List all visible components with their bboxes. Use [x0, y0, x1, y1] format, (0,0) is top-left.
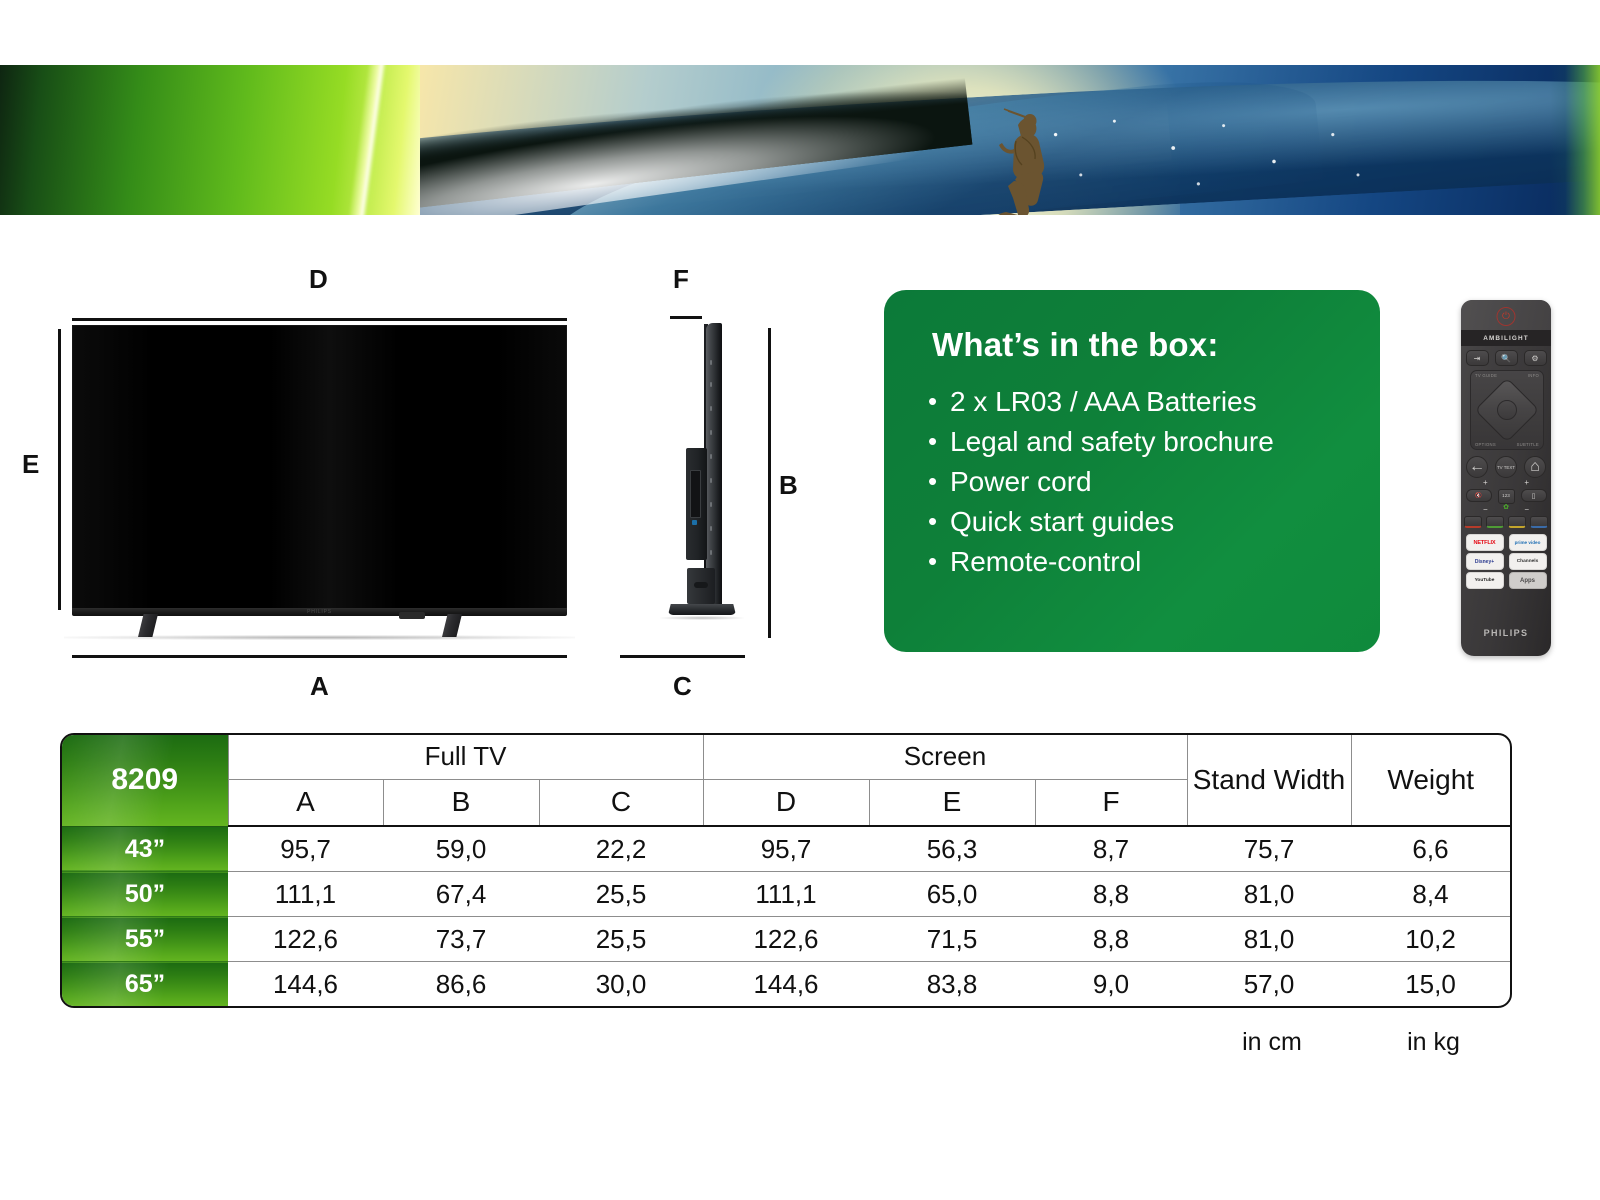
dim-rule-F — [670, 316, 702, 319]
row-size-label: 43” — [62, 826, 228, 872]
row-size-label: 55” — [62, 917, 228, 962]
cell-stand-width: 75,7 — [1187, 826, 1351, 872]
tv-side-marker-4 — [710, 430, 712, 435]
column-header-weight: Weight — [1351, 735, 1510, 826]
tv-side-marker-9 — [710, 550, 712, 555]
cell-stand-width: 81,0 — [1187, 872, 1351, 917]
home-icon: ⌂ — [1524, 456, 1546, 478]
tv-shadow — [64, 635, 575, 640]
options-label: OPTIONS — [1475, 442, 1496, 447]
search-icon: 🔍 — [1495, 350, 1518, 366]
remote-philips-logo: PHILIPS — [1461, 628, 1551, 638]
cell-D: 122,6 — [703, 917, 869, 962]
cell-stand-width: 57,0 — [1187, 962, 1351, 1006]
remote-volume-row: 🔇 123 ▯ — [1461, 489, 1551, 504]
prime-video-button: prime video — [1509, 534, 1547, 551]
yellow-button — [1508, 516, 1526, 528]
red-button — [1464, 516, 1482, 528]
youtube-button: YouTube — [1466, 572, 1504, 589]
row-size-label: 50” — [62, 872, 228, 917]
channels-button: Channels — [1509, 553, 1547, 570]
unit-label-cm: in cm — [1190, 1028, 1354, 1057]
remote-nav-row: ← TV TEXT ⌂ — [1461, 456, 1551, 478]
tv-philips-logo: PHILIPS — [307, 609, 332, 615]
dim-rule-D — [72, 318, 567, 321]
dim-rule-C — [620, 655, 745, 658]
dim-label-C: C — [673, 671, 692, 702]
netflix-button: NETFLIX — [1466, 534, 1504, 551]
tv-side-marker-3 — [710, 406, 712, 411]
column-header-C: C — [539, 779, 703, 826]
channel-minus-label: − — [1524, 505, 1529, 514]
cell-C: 25,5 — [539, 917, 703, 962]
keypad-icon: 123 — [1498, 489, 1515, 504]
mute-icon: 🔇 — [1466, 489, 1492, 502]
settings-icon: ⚙ — [1524, 350, 1547, 366]
tv-front-image: PHILIPS — [72, 325, 567, 610]
cell-C: 25,5 — [539, 872, 703, 917]
tv-side-marker-7 — [710, 502, 712, 507]
tv-screen — [72, 325, 567, 610]
box-item: Remote-control — [928, 542, 1274, 582]
column-header-F: F — [1035, 779, 1187, 826]
dim-label-E: E — [22, 449, 39, 480]
group-header-screen: Screen — [703, 735, 1187, 779]
box-contents-list: 2 x LR03 / AAA Batteries Legal and safet… — [928, 382, 1274, 582]
cell-D: 95,7 — [703, 826, 869, 872]
box-item: Quick start guides — [928, 502, 1274, 542]
cell-weight: 8,4 — [1351, 872, 1510, 917]
column-header-A: A — [228, 779, 383, 826]
table-row: 50” 111,1 67,4 25,5 111,1 65,0 8,8 81,0 … — [62, 872, 1510, 917]
subtitle-label: SUBTITLE — [1517, 442, 1539, 447]
back-icon: ← — [1466, 456, 1488, 478]
hero-banner — [0, 65, 1600, 215]
remote-color-buttons — [1461, 516, 1551, 528]
cell-E: 83,8 — [869, 962, 1035, 1006]
cell-B: 73,7 — [383, 917, 539, 962]
table-row: 43” 95,7 59,0 22,2 95,7 56,3 8,7 75,7 6,… — [62, 826, 1510, 872]
table-row: 55” 122,6 73,7 25,5 122,6 71,5 8,8 81,0 … — [62, 917, 1510, 962]
unit-label-kg: in kg — [1354, 1028, 1513, 1057]
group-header-full-tv: Full TV — [228, 735, 703, 779]
blue-button — [1530, 516, 1548, 528]
info-label: INFO — [1528, 373, 1539, 378]
tv-side-image — [660, 320, 750, 650]
cell-C: 22,2 — [539, 826, 703, 872]
dim-label-B: B — [779, 470, 798, 501]
cell-A: 144,6 — [228, 962, 383, 1006]
tv-side-marker-8 — [710, 526, 712, 531]
tv-text-button: TV TEXT — [1495, 456, 1517, 478]
dim-label-F: F — [673, 264, 689, 295]
remote-control-image: ⏻ AMBILIGHT ⇥ 🔍 ⚙ TV GUIDE INFO OPTIONS … — [1461, 300, 1551, 656]
whats-in-the-box-panel: What’s in the box: 2 x LR03 / AAA Batter… — [884, 290, 1380, 652]
cell-D: 144,6 — [703, 962, 869, 1006]
green-button — [1486, 516, 1504, 528]
cell-B: 67,4 — [383, 872, 539, 917]
column-header-D: D — [703, 779, 869, 826]
remote-app-row-2: Disney+ Channels — [1461, 553, 1551, 570]
cell-E: 56,3 — [869, 826, 1035, 872]
tv-side-marker-6 — [710, 478, 712, 483]
column-header-stand-width: Stand Width — [1187, 735, 1351, 826]
row-size-label: 65” — [62, 962, 228, 1006]
power-icon: ⏻ — [1497, 307, 1516, 326]
remote-app-row-1: NETFLIX prime video — [1461, 534, 1551, 551]
column-header-B: B — [383, 779, 539, 826]
cell-E: 71,5 — [869, 917, 1035, 962]
cell-weight: 15,0 — [1351, 962, 1510, 1006]
column-header-E: E — [869, 779, 1035, 826]
cell-C: 30,0 — [539, 962, 703, 1006]
channel-plus-label: + — [1524, 478, 1529, 487]
ok-button — [1497, 400, 1517, 420]
dim-rule-A — [72, 655, 567, 658]
cell-B: 86,6 — [383, 962, 539, 1006]
channel-icon: ▯ — [1521, 489, 1547, 502]
cell-B: 59,0 — [383, 826, 539, 872]
product-spec-sheet: D E PHILIPS A F — [0, 0, 1600, 1200]
cell-A: 95,7 — [228, 826, 383, 872]
tv-side-port-bay — [690, 470, 701, 518]
apps-button: Apps — [1509, 572, 1547, 589]
cell-F: 8,8 — [1035, 917, 1187, 962]
dim-rule-E — [58, 329, 61, 610]
box-item: Legal and safety brochure — [928, 422, 1274, 462]
leaf-icon: ✿ — [1503, 503, 1509, 511]
cell-D: 111,1 — [703, 872, 869, 917]
source-icon: ⇥ — [1466, 350, 1489, 366]
tv-stand-neck-slot — [694, 582, 708, 588]
tv-side-marker-5 — [710, 454, 712, 459]
dimensions-table-wrapper: 8209 Full TV Screen Stand Width Weight A… — [60, 733, 1512, 1008]
box-item: 2 x LR03 / AAA Batteries — [928, 382, 1274, 422]
dim-rule-B — [768, 328, 771, 638]
tv-side-marker-1 — [710, 360, 712, 365]
model-cell: 8209 — [62, 735, 228, 826]
tv-side-marker-2 — [710, 382, 712, 387]
cell-stand-width: 81,0 — [1187, 917, 1351, 962]
kite-surfer-silhouette — [960, 107, 1090, 215]
table-row: 65” 144,6 86,6 30,0 144,6 83,8 9,0 57,0 … — [62, 962, 1510, 1006]
dimensions-table: 8209 Full TV Screen Stand Width Weight A… — [60, 733, 1512, 1008]
cell-weight: 6,6 — [1351, 826, 1510, 872]
remote-shortcut-row: ⇥ 🔍 ⚙ — [1461, 350, 1551, 366]
table-header-group-row: 8209 Full TV Screen Stand Width Weight — [62, 735, 1510, 779]
volume-plus-label: + — [1483, 478, 1488, 487]
ambilight-label: AMBILIGHT — [1461, 330, 1551, 346]
disney-plus-button: Disney+ — [1466, 553, 1504, 570]
box-title: What’s in the box: — [932, 326, 1219, 364]
dim-label-D: D — [309, 264, 328, 295]
tv-side-port-indicator — [692, 520, 697, 525]
tv-foot-right — [442, 614, 462, 637]
tv-stand-base — [668, 604, 736, 615]
remote-app-row-3: YouTube Apps — [1461, 572, 1551, 589]
dpad-icon: TV GUIDE INFO OPTIONS SUBTITLE — [1470, 370, 1544, 450]
cell-F: 9,0 — [1035, 962, 1187, 1006]
tv-ir-receiver — [399, 612, 425, 619]
hero-ambilight-right-glow — [1550, 65, 1600, 215]
cell-F: 8,7 — [1035, 826, 1187, 872]
cell-E: 65,0 — [869, 872, 1035, 917]
cell-A: 111,1 — [228, 872, 383, 917]
dim-label-A: A — [310, 671, 329, 702]
tv-guide-label: TV GUIDE — [1475, 373, 1497, 378]
volume-minus-label: − — [1483, 505, 1488, 514]
cell-A: 122,6 — [228, 917, 383, 962]
box-item: Power cord — [928, 462, 1274, 502]
tv-side-shadow — [660, 616, 744, 620]
tv-foot-left — [138, 614, 158, 637]
cell-weight: 10,2 — [1351, 917, 1510, 962]
cell-F: 8,8 — [1035, 872, 1187, 917]
